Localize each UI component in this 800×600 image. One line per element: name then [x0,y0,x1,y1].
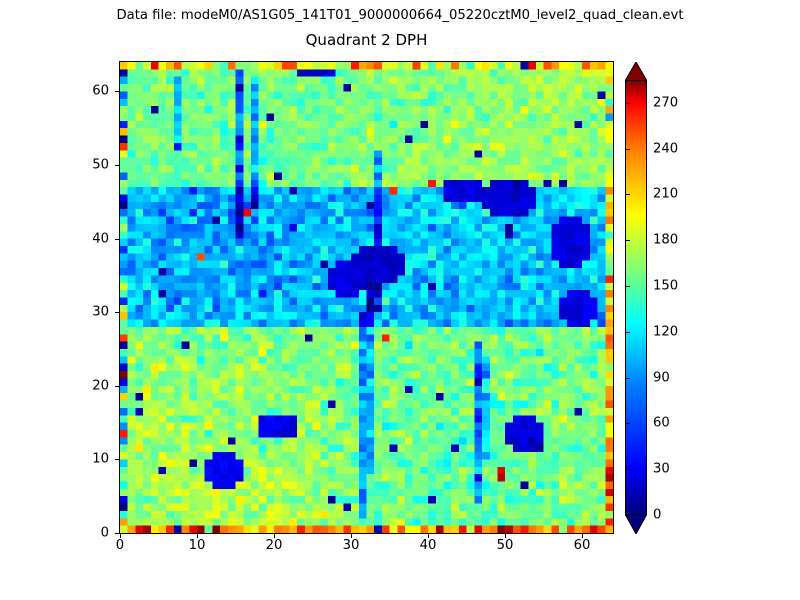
y-tick-mark [115,533,119,534]
colorbar-tick-label: 270 [653,96,678,111]
colorbar-tick-mark [625,286,630,287]
y-tick-label: 50 [61,158,109,173]
colorbar-under-arrow-icon [625,514,647,534]
colorbar-tick-label: 180 [653,233,678,248]
colorbar-over-arrow-icon [625,62,647,81]
x-tick-label: 20 [266,538,283,553]
colorbar-tick-mark [625,378,630,379]
heatmap-plot-area [119,61,614,534]
y-tick-label: 30 [61,305,109,320]
colorbar-tick-label: 210 [653,187,678,202]
y-tick-label: 10 [61,452,109,467]
y-tick-label: 60 [61,84,109,99]
colorbar: 0306090120150180210240270 [625,61,755,534]
colorbar-tick-label: 0 [653,508,661,523]
colorbar-gradient [625,80,647,515]
colorbar-tick-label: 90 [653,371,670,386]
y-tick-label: 40 [61,232,109,247]
colorbar-tick-mark [625,515,630,516]
colorbar-tick-label: 30 [653,462,670,477]
x-tick-label: 40 [420,538,437,553]
colorbar-tick-mark [625,469,630,470]
colorbar-tick-label: 240 [653,142,678,157]
colorbar-tick-mark [625,240,630,241]
y-tick-mark [115,459,119,460]
y-tick-label: 20 [61,379,109,394]
page-title: Quadrant 2 DPH [119,31,614,49]
colorbar-tick-label: 150 [653,279,678,294]
x-tick-label: 0 [116,538,124,553]
colorbar-tick-label: 120 [653,325,678,340]
data-file-label: Data file: modeM0/AS1G05_141T01_90000006… [0,8,800,23]
colorbar-tick-mark [625,332,630,333]
y-tick-mark [115,165,119,166]
colorbar-tick-mark [625,423,630,424]
colorbar-tick-mark [625,194,630,195]
x-tick-label: 30 [343,538,360,553]
y-tick-mark [115,91,119,92]
y-tick-mark [115,312,119,313]
colorbar-tick-mark [625,149,630,150]
colorbar-tick-label: 60 [653,416,670,431]
x-tick-label: 10 [189,538,206,553]
y-tick-label: 0 [61,526,109,541]
x-tick-label: 50 [497,538,514,553]
heatmap-image [120,62,613,533]
y-tick-mark [115,239,119,240]
colorbar-tick-mark [625,103,630,104]
y-tick-mark [115,386,119,387]
x-tick-label: 60 [574,538,591,553]
